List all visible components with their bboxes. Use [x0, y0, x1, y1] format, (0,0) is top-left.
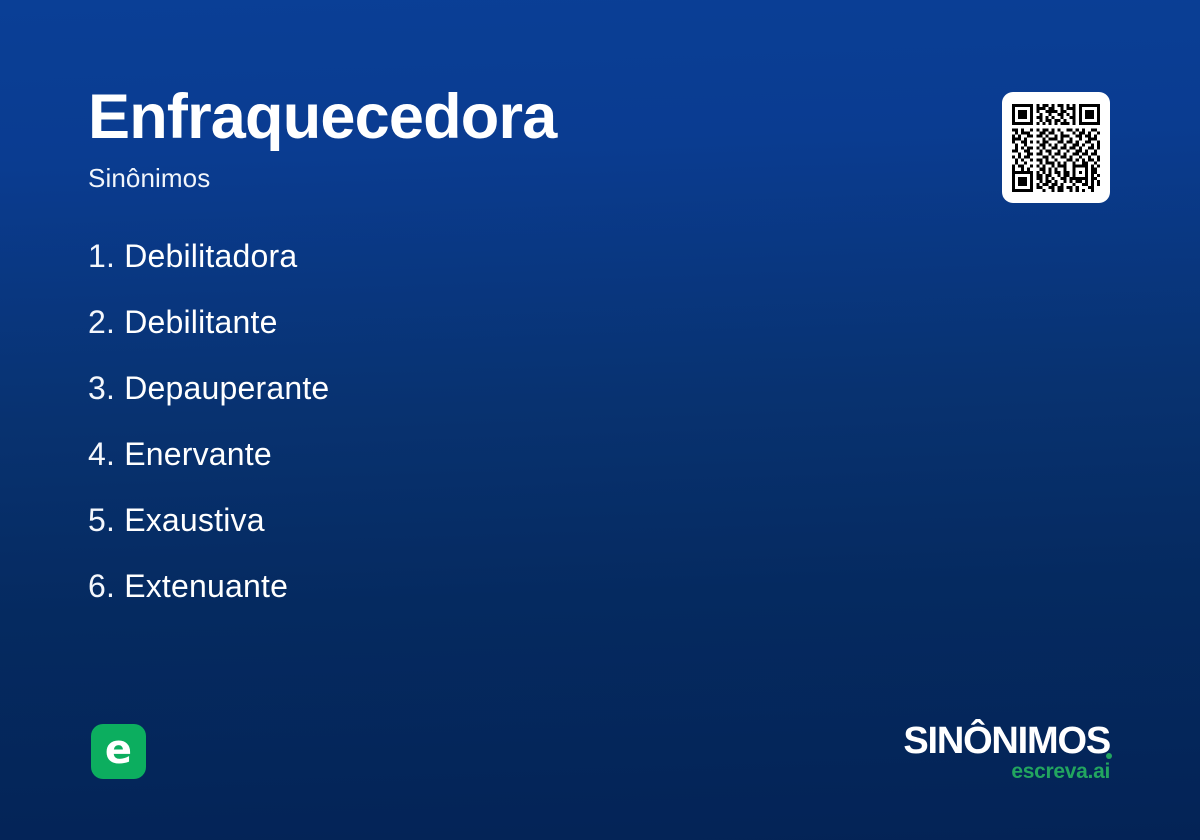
list-item: 6. Extenuante [88, 566, 908, 632]
list-item: 3. Depauperante [88, 368, 908, 434]
synonym-list: 1. Debilitadora 2. Debilitante 3. Depaup… [88, 236, 908, 632]
synonym-card: Enfraquecedora Sinônimos [0, 0, 1200, 840]
list-item-number: 5. [88, 502, 115, 538]
footer-logo-subtitle: escreva.ai [903, 761, 1110, 782]
page-subtitle: Sinônimos [88, 163, 948, 194]
list-item-number: 1. [88, 238, 115, 274]
page-title: Enfraquecedora [88, 86, 948, 149]
list-item-word: Exaustiva [124, 502, 265, 538]
list-item-word: Debilitadora [124, 238, 297, 274]
list-item-word: Extenuante [124, 568, 288, 604]
escreva-e-icon: e [91, 724, 146, 779]
list-item-word: Debilitante [124, 304, 277, 340]
list-item-number: 2. [88, 304, 115, 340]
list-item-word: Enervante [124, 436, 272, 472]
footer-logo: SINÔNIMOS escreva.ai [903, 722, 1110, 782]
list-item: 1. Debilitadora [88, 236, 908, 302]
escreva-e-icon-letter: e [105, 730, 132, 770]
qr-code-card[interactable] [1002, 92, 1110, 203]
qr-code-icon [1012, 104, 1100, 192]
header: Enfraquecedora Sinônimos [88, 86, 948, 194]
footer-logo-dot-icon [1106, 753, 1112, 759]
footer-logo-title-text: SINÔNIMOS [903, 720, 1110, 762]
list-item-number: 4. [88, 436, 115, 472]
list-item: 5. Exaustiva [88, 500, 908, 566]
footer-logo-title: SINÔNIMOS [903, 722, 1110, 760]
list-item: 2. Debilitante [88, 302, 908, 368]
list-item-number: 6. [88, 568, 115, 604]
list-item: 4. Enervante [88, 434, 908, 500]
list-item-word: Depauperante [124, 370, 329, 406]
list-item-number: 3. [88, 370, 115, 406]
